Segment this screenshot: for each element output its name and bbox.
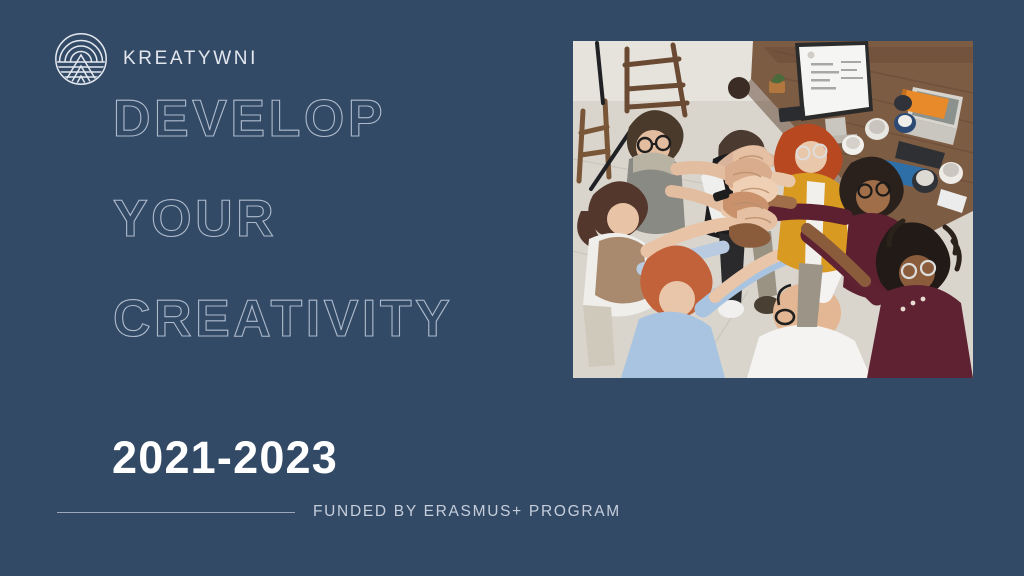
brand-name: KREATYWNI [123, 48, 258, 70]
year-range: 2021-2023 [112, 432, 338, 484]
poster-canvas: KREATYWNI DEVELOP YOUR CREATIVITY 2021-2… [0, 0, 1024, 576]
headline-line-1: DEVELOP [113, 93, 583, 145]
brand-lockup: KREATYWNI [53, 31, 258, 87]
funding-note: FUNDED BY ERASMUS+ PROGRAM [313, 503, 621, 521]
headline-line-3: CREATIVITY [113, 293, 583, 345]
headline-line-2: YOUR [113, 193, 583, 245]
footer: FUNDED BY ERASMUS+ PROGRAM [57, 503, 657, 521]
footer-divider [57, 512, 295, 513]
circular-arch-mountain-logo-icon [53, 31, 109, 87]
page-title: DEVELOP YOUR CREATIVITY [113, 93, 583, 345]
team-highfive-photo [573, 41, 973, 378]
